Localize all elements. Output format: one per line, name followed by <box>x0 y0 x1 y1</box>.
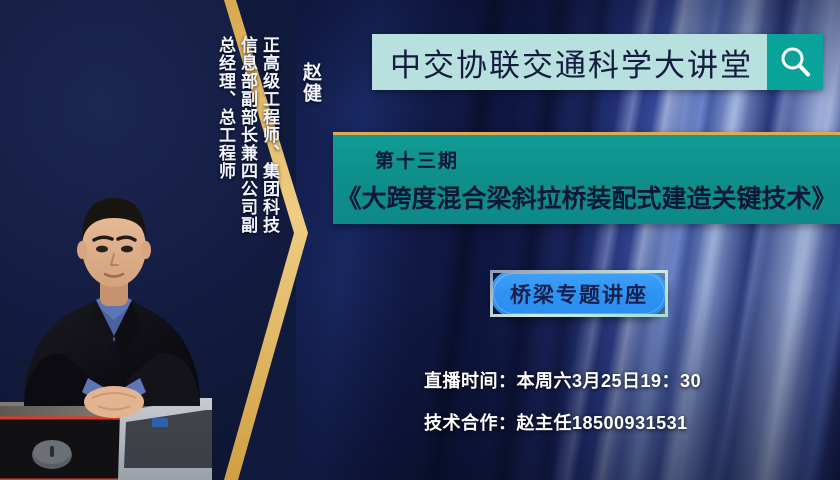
contact-info: 技术合作：赵主任18500931531 <box>424 409 688 435</box>
hands <box>84 386 144 418</box>
lecture-topic: 《大跨度混合梁斜拉桥装配式建造关键技术》 <box>333 179 840 215</box>
search-icon[interactable] <box>767 34 823 90</box>
speaker-portrait <box>0 150 212 480</box>
broadcast-time: 直播时间：本周六3月25日19：30 <box>424 367 701 393</box>
speaker-credential-2: 信息部副部长兼四公司副 <box>239 36 256 234</box>
header-title-bar: 中交协联交通科学大讲堂 <box>372 34 823 90</box>
episode-number: 第十三期 <box>375 146 840 173</box>
speaker-credential-3: 总经理、总工程师 <box>217 36 234 180</box>
speaker-credential-1: 正高级工程师、集团科技 <box>261 36 278 234</box>
page-title: 中交协联交通科学大讲堂 <box>372 34 767 90</box>
category-badge-label: 桥梁专题讲座 <box>510 279 648 309</box>
category-badge[interactable]: 桥梁专题讲座 <box>490 270 668 317</box>
speaker-name: 赵健 <box>301 62 320 104</box>
live-stream-poster: 赵健 正高级工程师、集团科技 信息部副部长兼四公司副 总经理、总工程师 中交协联… <box>0 0 840 480</box>
subtitle-banner: 第十三期 《大跨度混合梁斜拉桥装配式建造关键技术》 <box>333 132 840 224</box>
